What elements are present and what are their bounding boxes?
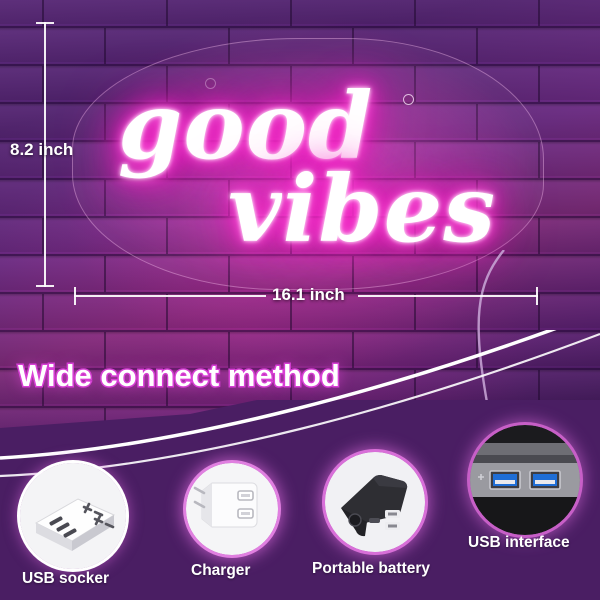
width-dimension-cap bbox=[536, 287, 538, 305]
width-dimension-line bbox=[358, 295, 538, 297]
thumb-portable-battery bbox=[325, 452, 425, 552]
width-dimension-cap bbox=[74, 287, 76, 305]
connect-method-label-3: USB interface bbox=[468, 534, 570, 552]
width-dimension-label: 16.1 inch bbox=[272, 285, 345, 305]
thumb-charger bbox=[186, 463, 278, 555]
height-dimension-cap bbox=[36, 22, 54, 24]
connect-method-label-2: Portable battery bbox=[312, 560, 430, 578]
connect-method-label-1: Charger bbox=[191, 562, 250, 580]
mounting-hole-icon bbox=[205, 78, 216, 89]
connect-method-label-0: USB socker bbox=[22, 570, 109, 588]
neon-sign-text-vibes: vibes bbox=[228, 155, 496, 263]
height-dimension-cap bbox=[36, 285, 54, 287]
thumb-usb-interface bbox=[470, 425, 580, 535]
thumb-usb-socket bbox=[20, 463, 126, 569]
product-infographic: good vibes 8.2 inch 16.1 inch Wide conne… bbox=[0, 0, 600, 600]
width-dimension-line bbox=[74, 295, 266, 297]
mounting-hole-icon bbox=[403, 94, 414, 105]
height-dimension-label: 8.2 inch bbox=[10, 140, 73, 160]
